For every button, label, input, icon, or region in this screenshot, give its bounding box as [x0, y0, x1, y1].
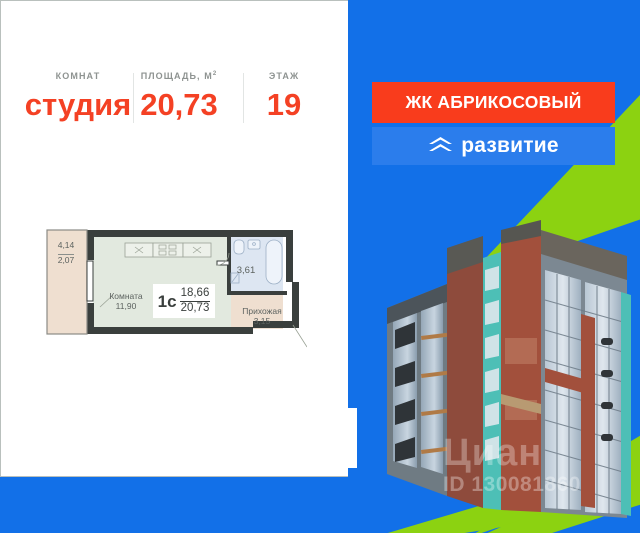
- plan-type-code: 1с: [158, 293, 177, 310]
- spec-floor: ЭТАЖ 19: [245, 71, 323, 120]
- bathroom-area: 3,61: [230, 266, 262, 276]
- promo-panel: Циан ID 130081860 ЖК АБРИКОСОВЫЙ развити…: [347, 0, 640, 533]
- spec-area-label-text: ПЛОЩАДЬ, м: [141, 71, 213, 81]
- plan-type-badge: 1с 18,66 20,73: [153, 284, 215, 318]
- logo-title-banner: ЖК АБРИКОСОВЫЙ: [372, 82, 615, 123]
- hallway-area: 3,15: [229, 316, 295, 326]
- balcony-length: 4,14: [48, 240, 84, 250]
- chevron-roof-icon: [428, 136, 453, 156]
- plan-label-balcony: 4,14 2,07: [48, 240, 84, 268]
- developer-banner: развитие: [372, 127, 615, 165]
- hallway-name: Прихожая: [229, 306, 295, 316]
- total-area-value: 20,73: [180, 301, 211, 315]
- balcony-area: 2,07: [58, 254, 75, 265]
- listing-card: КОМНАТ студия ПЛОЩАДЬ, м2 20,73 ЭТАЖ 19: [0, 0, 348, 477]
- plan-label-bathroom: 3,61: [230, 266, 262, 276]
- spec-rooms-label: КОМНАТ: [23, 71, 133, 81]
- room-area: 11,90: [93, 301, 159, 311]
- spec-floor-label: ЭТАЖ: [245, 71, 323, 81]
- logo-title-text: ЖК АБРИКОСОВЫЙ: [405, 92, 581, 113]
- building-illustration: [355, 218, 640, 518]
- spec-area-value: 20,73: [119, 89, 239, 120]
- spec-area: ПЛОЩАДЬ, м2 20,73: [119, 71, 239, 120]
- complex-logo: ЖК АБРИКОСОВЫЙ развитие: [372, 82, 615, 165]
- plan-label-room: Комната 11,90: [93, 291, 159, 311]
- spec-header: КОМНАТ студия ПЛОЩАДЬ, м2 20,73 ЭТАЖ 19: [23, 71, 323, 133]
- screenshot-root: Циан ID 130081860 ЖК АБРИКОСОВЫЙ развити…: [0, 0, 640, 533]
- spec-floor-value: 19: [245, 89, 323, 120]
- spec-rooms-value: студия: [23, 89, 133, 120]
- spec-area-label: ПЛОЩАДЬ, м2: [119, 71, 239, 81]
- room-name: Комната: [93, 291, 159, 301]
- spec-divider-2: [243, 73, 244, 123]
- spec-rooms: КОМНАТ студия: [23, 71, 133, 120]
- panel-notch: [347, 408, 357, 468]
- living-area-value: 18,66: [180, 288, 211, 301]
- plan-area-fraction: 18,66 20,73: [180, 288, 211, 314]
- card-bottom-strip: [0, 477, 348, 533]
- developer-name: развитие: [461, 134, 559, 158]
- spec-area-label-sup: 2: [213, 71, 217, 77]
- plan-label-hallway: Прихожая 3,15: [229, 306, 295, 326]
- chevron-roof-glyph: [428, 136, 453, 156]
- building-render: [355, 218, 640, 518]
